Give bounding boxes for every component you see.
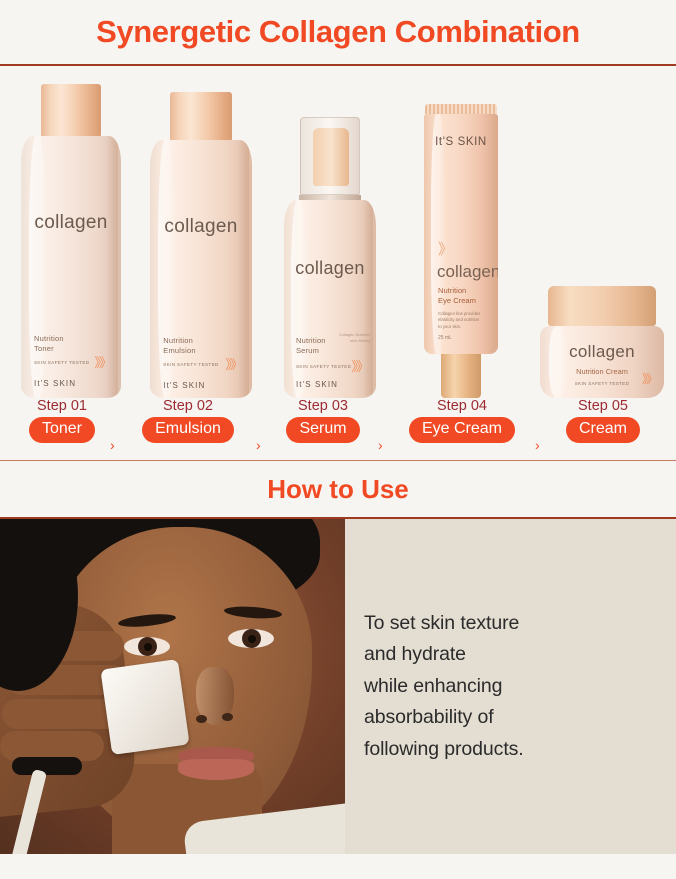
cream-highlight [549, 326, 568, 398]
eye-cream-crimp [425, 104, 497, 114]
serum-brand: It'S SKIN [296, 380, 338, 389]
photo-nostril-left [196, 715, 207, 723]
step-arrow-4: › [535, 437, 540, 453]
usage-text: To set skin texture and hydrate while en… [364, 608, 524, 766]
photo-cotton-pad [100, 659, 189, 755]
eye-cream-cap [441, 354, 481, 398]
toner-cap [41, 84, 101, 136]
emulsion-collagen-label: collagen [150, 216, 252, 238]
cream-jar: collagen Nutrition Cream SKIN SAFETY TES… [540, 326, 664, 398]
serum-pump-head [313, 128, 349, 186]
serum-chevron-icon: 》》 [351, 356, 367, 375]
step-arrow-2: › [256, 437, 261, 453]
photo-finger-3 [2, 699, 120, 729]
eye-cream-chevron-icon: 》 [438, 238, 451, 259]
step-04[interactable]: Step 04 Eye Cream [392, 398, 532, 443]
step-03-pill[interactable]: Serum [286, 417, 359, 443]
eye-cream-line1: Nutrition [438, 286, 466, 295]
photo-pupil-right [248, 635, 256, 643]
step-02-label: Step 02 [124, 398, 252, 414]
serum-pump-cap [300, 117, 360, 195]
step-arrow-3: › [378, 437, 383, 453]
product-eye-cream[interactable]: It'S SKIN 》 collagen Nutrition Eye Cream… [413, 104, 509, 398]
serum-collagen-label: collagen [284, 258, 376, 279]
serum-tested: SKIN SAFETY TESTED [296, 364, 351, 369]
step-04-label: Step 04 [392, 398, 532, 414]
toner-body: collagen Nutrition Toner SKIN SAFETY TES… [21, 136, 121, 398]
toner-tested: SKIN SAFETY TESTED [34, 360, 89, 365]
step-05-label: Step 05 [548, 398, 658, 414]
cream-chevron-icon: 》》 [642, 370, 656, 387]
emulsion-body: collagen Nutrition Emulsion SKIN SAFETY … [150, 140, 252, 398]
howto-content: To set skin texture and hydrate while en… [0, 519, 676, 854]
serum-side-note: Collagen Nutrition skin firming [339, 332, 371, 343]
usage-line-5: following products. [364, 734, 524, 766]
product-lineup: collagen Nutrition Toner SKIN SAFETY TES… [0, 66, 676, 398]
step-02-pill[interactable]: Emulsion [142, 417, 234, 443]
usage-line-2: and hydrate [364, 639, 524, 671]
serum-body: collagen Nutrition Serum SKIN SAFETY TES… [284, 200, 376, 398]
step-row: Step 01 Toner › Step 02 Emulsion › Step … [0, 398, 676, 460]
usage-line-4: absorbability of [364, 702, 524, 734]
emulsion-highlight [158, 140, 175, 398]
step-arrow-1: › [110, 437, 115, 453]
usage-line-3: while enhancing [364, 671, 524, 703]
step-04-pill[interactable]: Eye Cream [409, 417, 515, 443]
application-photo [0, 519, 345, 854]
cream-collagen-label: collagen [540, 342, 664, 362]
toner-highlight [29, 136, 46, 398]
toner-brand: It'S SKIN [34, 379, 76, 388]
step-01-label: Step 01 [12, 398, 112, 414]
photo-lip-lower [178, 759, 254, 780]
cream-lid [548, 286, 656, 326]
emulsion-cap [170, 92, 232, 140]
eye-cream-line2: Eye Cream [438, 296, 476, 305]
product-emulsion[interactable]: collagen Nutrition Emulsion SKIN SAFETY … [142, 92, 260, 398]
photo-nostril-right [222, 713, 233, 721]
eye-cream-brand-top: It'S SKIN [424, 136, 498, 148]
photo-necklace [12, 757, 82, 775]
usage-text-panel: To set skin texture and hydrate while en… [345, 519, 676, 854]
serum-line2: Serum [296, 346, 319, 356]
page-header: Synergetic Collagen Combination [0, 0, 676, 64]
photo-pupil-left [144, 643, 152, 651]
product-serum[interactable]: collagen Nutrition Serum SKIN SAFETY TES… [276, 117, 384, 398]
howto-header: How to Use [0, 461, 676, 517]
emulsion-tested: SKIN SAFETY TESTED [163, 362, 218, 367]
toner-line1: Nutrition [34, 334, 64, 344]
emulsion-line2: Emulsion [163, 346, 195, 356]
usage-line-1: To set skin texture [364, 608, 524, 640]
eye-cream-tube: It'S SKIN 》 collagen Nutrition Eye Cream… [424, 114, 498, 354]
emulsion-brand: It'S SKIN [163, 381, 205, 390]
product-toner[interactable]: collagen Nutrition Toner SKIN SAFETY TES… [12, 84, 130, 398]
step-03[interactable]: Step 03 Serum [270, 398, 376, 443]
eye-cream-volume: 25 mL [438, 335, 452, 341]
step-01-pill[interactable]: Toner [29, 417, 95, 443]
step-03-label: Step 03 [270, 398, 376, 414]
toner-chevron-icon: 》》 [94, 352, 110, 371]
step-01[interactable]: Step 01 Toner [12, 398, 112, 443]
page-title: Synergetic Collagen Combination [96, 14, 580, 50]
toner-collagen-label: collagen [21, 212, 121, 234]
step-05[interactable]: Step 05 Cream [548, 398, 658, 443]
howto-title: How to Use [267, 474, 409, 505]
step-05-pill[interactable]: Cream [566, 417, 640, 443]
step-02[interactable]: Step 02 Emulsion [124, 398, 252, 443]
toner-line2: Toner [34, 344, 54, 354]
eye-cream-collagen-label: collagen [437, 262, 498, 282]
emulsion-chevron-icon: 》》 [225, 354, 241, 373]
eye-cream-description: Collagen line provides elasticity and nu… [438, 311, 484, 330]
emulsion-line1: Nutrition [163, 336, 193, 346]
product-cream[interactable]: collagen Nutrition Cream SKIN SAFETY TES… [537, 286, 667, 398]
serum-line1: Nutrition [296, 336, 326, 346]
